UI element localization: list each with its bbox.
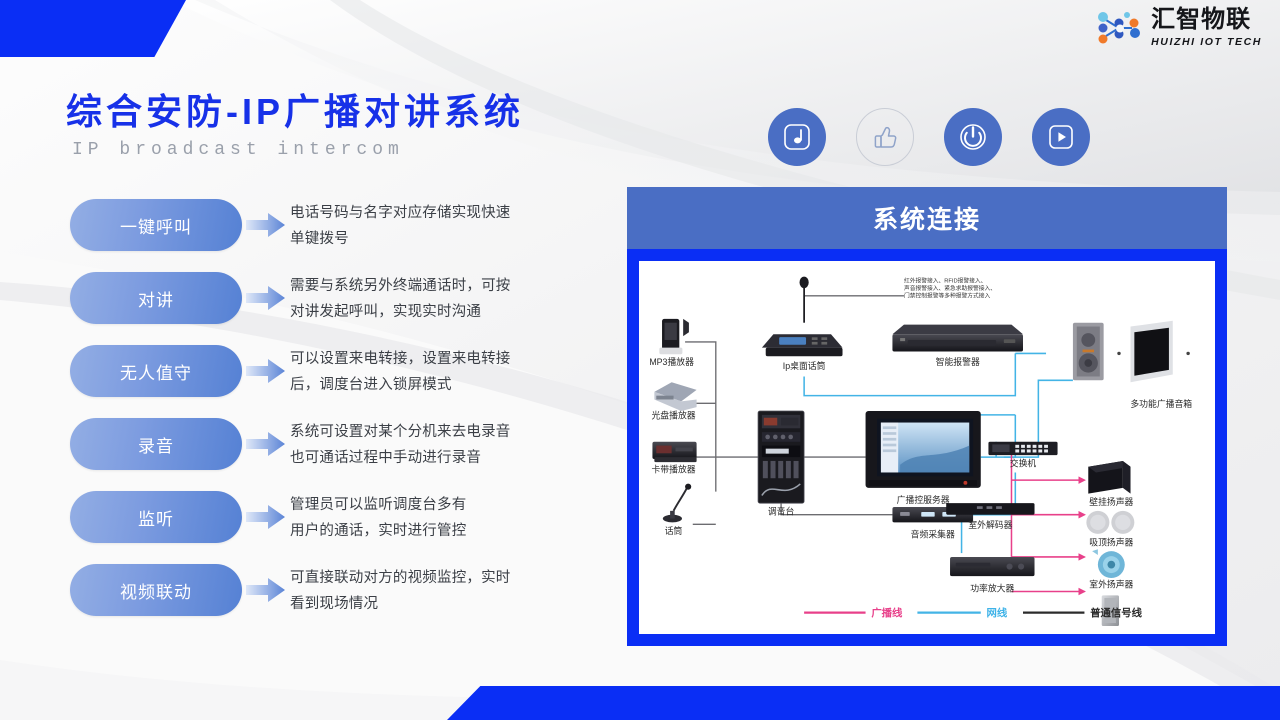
arrow-right-icon	[242, 199, 290, 251]
arrow-right-icon	[242, 418, 290, 470]
feature-description-line: 也可通话过程中手动进行录音	[290, 445, 630, 471]
feature-pill-label: 对讲	[138, 286, 174, 311]
device-ip-desktop-mic	[762, 277, 843, 357]
power-icon	[957, 121, 989, 153]
feature-description-line: 看到现场情况	[290, 591, 630, 617]
device-tape-player	[652, 442, 696, 462]
feature-description-line: 用户的通话，实时进行管控	[290, 518, 630, 544]
thumbs-up-icon-button[interactable]	[856, 108, 914, 166]
feature-description-line: 系统可设置对某个分机来去电录音	[290, 419, 630, 445]
svg-text:壁挂扬声器: 壁挂扬声器	[1089, 496, 1133, 507]
feature-pill-3[interactable]: 录音	[70, 418, 242, 470]
feature-pill-label: 监听	[138, 505, 174, 530]
feature-description: 可以设置来电转接，设置来电转接 后，调度台进入锁屏模式	[290, 345, 630, 398]
feature-description-line: 可以设置来电转接，设置来电转接	[290, 346, 630, 372]
speaker-outdoor-horn	[1092, 549, 1125, 578]
svg-text:多功能广播音箱: 多功能广播音箱	[1130, 398, 1192, 409]
svg-text:光盘播放器: 光盘播放器	[651, 410, 695, 421]
molecule-node-icon	[1095, 8, 1145, 48]
device-outdoor-decoder	[946, 503, 1034, 515]
feature-row: 一键呼叫 电话号码与名字对应存储实现快速 单键拨号	[70, 199, 630, 259]
feature-description-line: 单键拨号	[290, 226, 630, 252]
svg-text:卡带播放器: 卡带播放器	[651, 463, 695, 474]
brand-logo: 汇智物联 HUIZHI IOT TECH	[1095, 8, 1262, 48]
arrow-right-icon	[242, 345, 290, 397]
feature-description: 可直接联动对方的视频监控，实时 看到现场情况	[290, 564, 630, 617]
feature-description: 系统可设置对某个分机来去电录音 也可通话过程中手动进行录音	[290, 418, 630, 471]
feature-pill-0[interactable]: 一键呼叫	[70, 199, 242, 251]
feature-description: 需要与系统另外终端通话时，可按 对讲发起呼叫，实现实时沟通	[290, 272, 630, 325]
device-microphone	[663, 484, 691, 523]
brand-name-cn: 汇智物联	[1151, 8, 1262, 32]
device-power-amplifier	[950, 557, 1034, 576]
panel-title: 系统连接	[873, 200, 981, 236]
speaker-wall-panel	[1131, 321, 1173, 382]
svg-text:吸顶扬声器: 吸顶扬声器	[1089, 536, 1133, 547]
power-icon-button[interactable]	[944, 108, 1002, 166]
diagram-legend: 广播线 网线 普通信号线	[804, 606, 1143, 619]
music-note-icon	[782, 122, 812, 152]
feature-pill-label: 无人值守	[120, 359, 192, 384]
feature-pill-1[interactable]: 对讲	[70, 272, 242, 324]
device-mp3-player	[659, 319, 689, 354]
svg-text:室外扬声器: 室外扬声器	[1089, 579, 1133, 590]
svg-text:门禁控制报警等多种报警方式接入: 门禁控制报警等多种报警方式接入	[904, 292, 990, 300]
feature-row: 对讲 需要与系统另外终端通话时，可按 对讲发起呼叫，实现实时沟通	[70, 272, 630, 332]
svg-text:Ip桌面话筒: Ip桌面话筒	[783, 360, 826, 371]
feature-list: 一键呼叫 电话号码与名字对应存储实现快速 单键拨号 对讲	[70, 199, 630, 637]
speaker-wall-mounted	[1088, 461, 1130, 494]
thumbs-up-icon	[869, 121, 901, 153]
corner-decoration-bottom-right	[447, 686, 1280, 720]
play-icon	[1046, 122, 1076, 152]
arrow-right-icon	[242, 491, 290, 543]
system-connection-panel: 系统连接	[627, 187, 1227, 646]
legend-label-network: 网线	[987, 606, 1008, 619]
device-mixer-console	[758, 411, 804, 503]
svg-text:红外报警接入、RFID报警接入、: 红外报警接入、RFID报警接入、	[904, 276, 986, 284]
feature-description-line: 后，调度台进入锁屏模式	[290, 372, 630, 398]
feature-row: 无人值守 可以设置来电转接，设置来电转接 后，调度台进入锁屏模式	[70, 345, 630, 405]
svg-text:功率放大器: 功率放大器	[970, 583, 1014, 594]
svg-text:声音报警接入、紧急求助报警接入、: 声音报警接入、紧急求助报警接入、	[904, 284, 996, 292]
music-note-icon-button[interactable]	[768, 108, 826, 166]
legend-label-signal: 普通信号线	[1090, 606, 1142, 619]
panel-header: 系统连接	[627, 187, 1227, 249]
feature-pill-label: 录音	[138, 432, 174, 457]
speaker-studio-monitor	[1073, 323, 1104, 381]
feature-description-line: 需要与系统另外终端通话时，可按	[290, 273, 630, 299]
feature-pill-4[interactable]: 监听	[70, 491, 242, 543]
page-subtitle: IP broadcast intercom	[72, 140, 404, 160]
device-broadcast-server	[866, 411, 981, 488]
feature-description: 管理员可以监听调度台多有 用户的通话，实时进行管控	[290, 491, 630, 544]
feature-description: 电话号码与名字对应存储实现快速 单键拨号	[290, 199, 630, 252]
feature-description-line: 可直接联动对方的视频监控，实时	[290, 565, 630, 591]
device-network-switch	[988, 442, 1057, 455]
feature-row: 视频联动 可直接联动对方的视频监控，实时 看到现场情况	[70, 564, 630, 624]
device-alarm-unit	[892, 325, 1023, 352]
svg-text:音频采集器: 音频采集器	[911, 529, 955, 540]
svg-text:广播控服务器: 广播控服务器	[897, 494, 950, 505]
svg-text:MP3播放器: MP3播放器	[649, 356, 694, 367]
brand-name-en: HUIZHI IOT TECH	[1151, 37, 1262, 48]
svg-text:调音台: 调音台	[768, 506, 795, 517]
system-topology-diagram: MP3播放器 光盘播放器 卡带播放器	[639, 261, 1215, 634]
feature-pill-label: 一键呼叫	[120, 213, 192, 238]
feature-pill-label: 视频联动	[120, 578, 192, 603]
feature-description-line: 电话号码与名字对应存储实现快速	[290, 200, 630, 226]
feature-description-line: 对讲发起呼叫，实现实时沟通	[290, 299, 630, 325]
speaker-ceiling-mounted	[1086, 511, 1134, 534]
page-title: 综合安防-IP广播对讲系统	[66, 83, 524, 135]
feature-row: 录音 系统可设置对某个分机来去电录音 也可通话过程中手动进行录音	[70, 418, 630, 478]
device-cd-player	[654, 382, 696, 411]
play-icon-button[interactable]	[1032, 108, 1090, 166]
legend-label-broadcast: 广播线	[871, 606, 903, 619]
svg-text:智能报警器: 智能报警器	[936, 356, 980, 367]
arrow-right-icon	[242, 564, 290, 616]
icon-button-row	[768, 108, 1090, 166]
feature-pill-2[interactable]: 无人值守	[70, 345, 242, 397]
svg-text:交换机: 交换机	[1010, 458, 1037, 469]
feature-pill-5[interactable]: 视频联动	[70, 564, 242, 616]
feature-description-line: 管理员可以监听调度台多有	[290, 492, 630, 518]
panel-body: MP3播放器 光盘播放器 卡带播放器	[639, 261, 1215, 634]
svg-text:话筒: 话筒	[665, 525, 683, 536]
corner-decoration-top-left	[0, 0, 186, 57]
feature-row: 监听 管理员可以监听调度台多有 用户的通话，实时进行管控	[70, 491, 630, 551]
svg-text:室外解码器: 室外解码器	[968, 519, 1012, 530]
panel-frame: MP3播放器 光盘播放器 卡带播放器	[627, 249, 1227, 646]
arrow-right-icon	[242, 272, 290, 324]
slide-root: 汇智物联 HUIZHI IOT TECH 综合安防-IP广播对讲系统 IP br…	[0, 0, 1280, 720]
